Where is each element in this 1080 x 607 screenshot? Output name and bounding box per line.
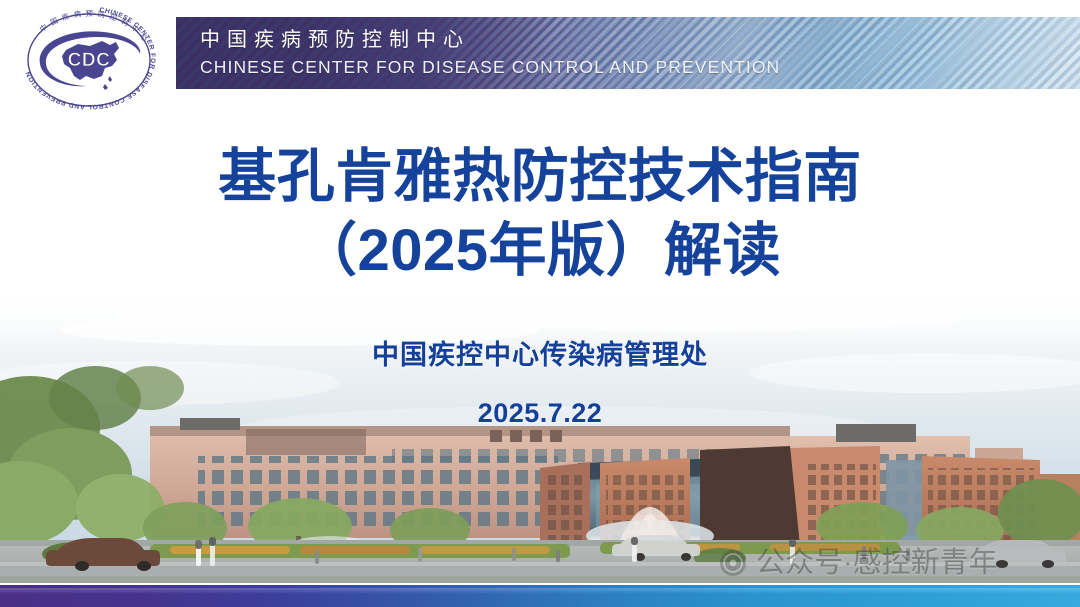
cdc-emblem-icon: CHINESE CENTER FOR DISEASE CONTROL AND P… [6,6,172,110]
slide-title: 基孔肯雅热防控技术指南 （2025年版）解读 [0,140,1080,288]
bottom-bar-highlight [0,588,1080,594]
svg-text:CDC: CDC [68,50,111,71]
subtitle-date: 2025.7.22 [0,395,1080,431]
title-line-2: （2025年版）解读 [0,214,1080,288]
organization-name-cn: 中国疾病预防控制中心 [200,25,780,55]
subtitle-organization: 中国疾控中心传染病管理处 [0,336,1080,374]
organization-banner: 中国疾病预防控制中心 CHINESE CENTER FOR DISEASE CO… [176,17,1080,89]
slide-header: CHINESE CENTER FOR DISEASE CONTROL AND P… [0,0,1080,112]
title-line-1: 基孔肯雅热防控技术指南 [0,140,1080,214]
slide-subtitle: 中国疾控中心传染病管理处 2025.7.22 [0,336,1080,431]
presentation-slide: CHINESE CENTER FOR DISEASE CONTROL AND P… [0,0,1080,607]
bottom-accent-bar [0,585,1080,607]
organization-name-en: CHINESE CENTER FOR DISEASE CONTROL AND P… [200,55,780,79]
organization-names: 中国疾病预防控制中心 CHINESE CENTER FOR DISEASE CO… [200,25,780,79]
